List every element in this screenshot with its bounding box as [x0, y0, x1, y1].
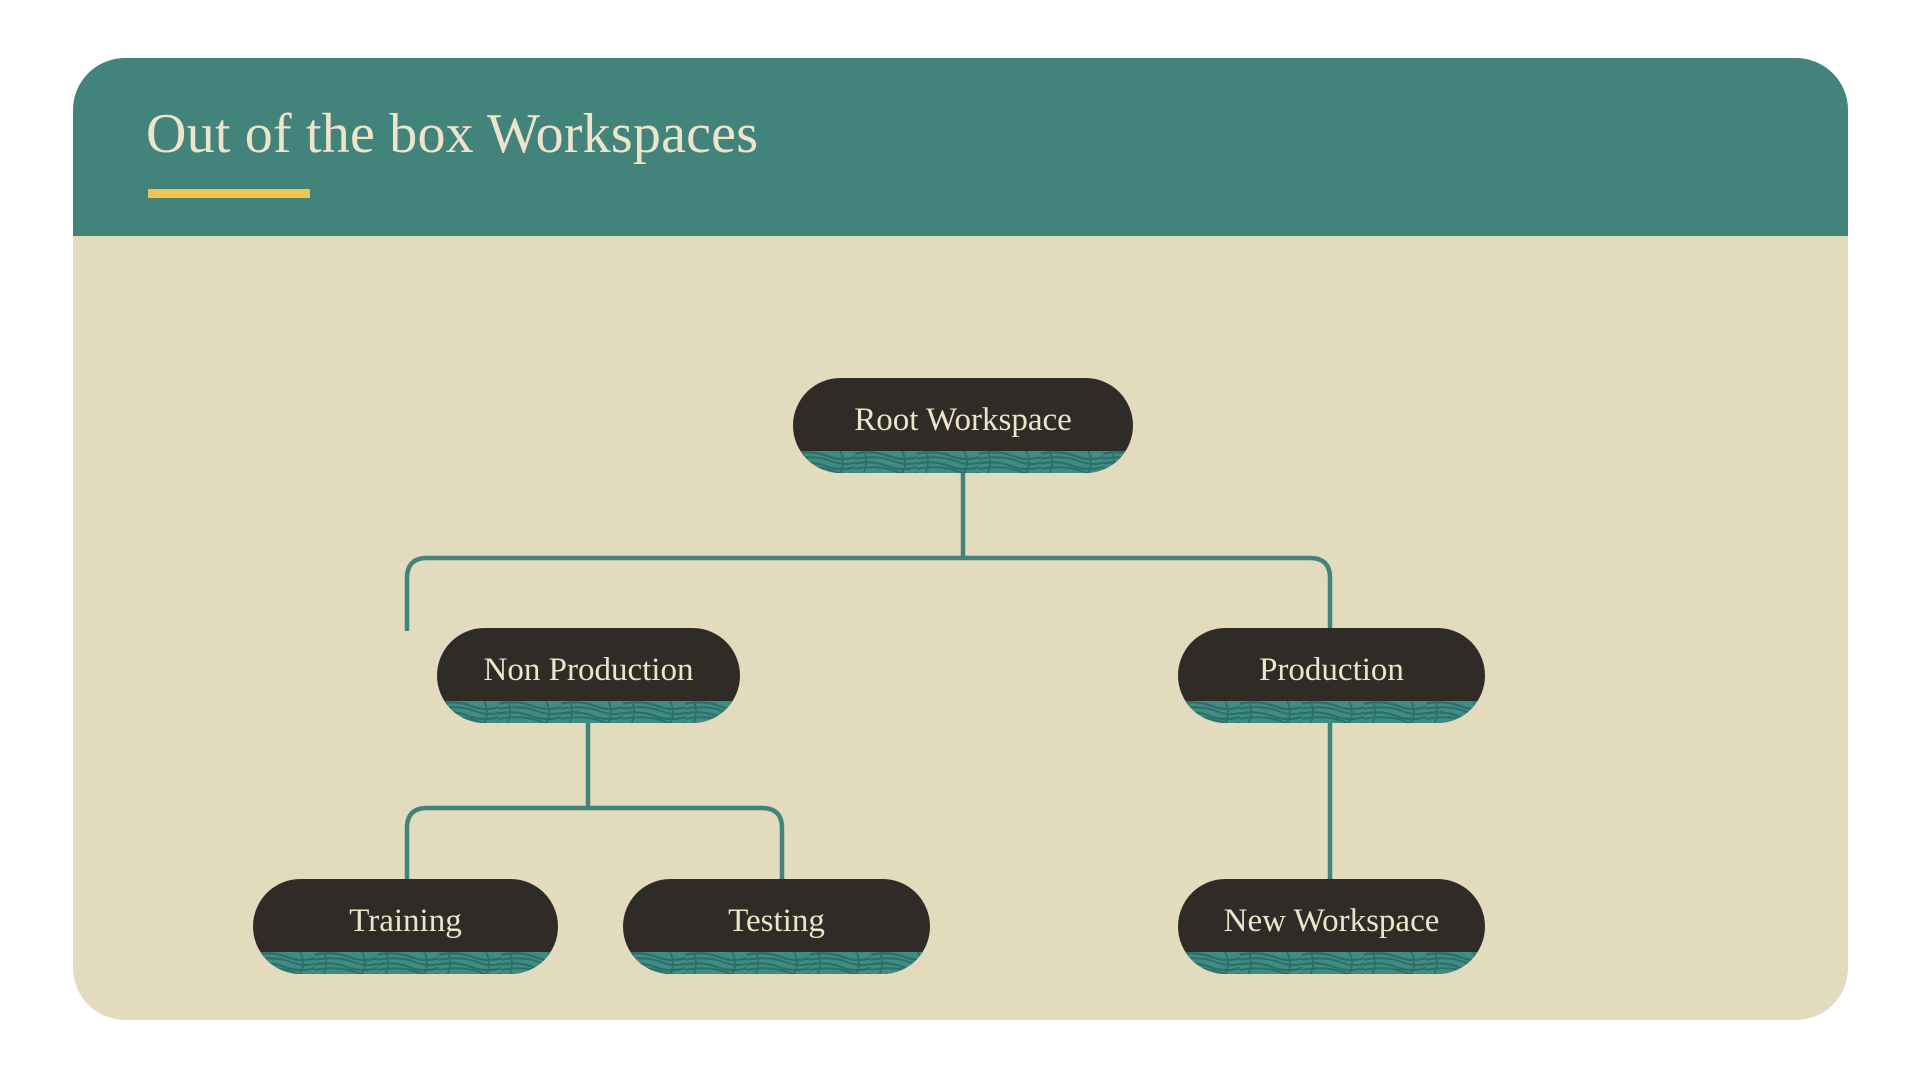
- slide-header: Out of the box Workspaces: [73, 58, 1848, 236]
- node-testing[interactable]: Testing: [623, 879, 930, 974]
- node-label: Root Workspace: [854, 378, 1072, 437]
- node-production[interactable]: Production: [1178, 628, 1485, 723]
- slide-root: Out of the box Workspaces: [0, 0, 1920, 1080]
- node-label: Training: [349, 879, 461, 938]
- slide-card: Out of the box Workspaces: [73, 58, 1848, 1020]
- node-label: Testing: [728, 879, 825, 938]
- title-accent-bar: [148, 189, 310, 198]
- node-texture: [623, 952, 930, 974]
- node-texture: [1178, 952, 1485, 974]
- node-label: Non Production: [484, 628, 694, 687]
- page-title: Out of the box Workspaces: [146, 106, 758, 162]
- node-new-workspace[interactable]: New Workspace: [1178, 879, 1485, 974]
- node-root-workspace[interactable]: Root Workspace: [793, 378, 1133, 473]
- node-label: New Workspace: [1224, 879, 1440, 938]
- node-training[interactable]: Training: [253, 879, 558, 974]
- node-label: Production: [1259, 628, 1404, 687]
- node-texture: [253, 952, 558, 974]
- node-non-production[interactable]: Non Production: [437, 628, 740, 723]
- node-texture: [1178, 701, 1485, 723]
- node-texture: [437, 701, 740, 723]
- node-texture: [793, 451, 1133, 473]
- diagram-canvas: Root Workspace Non Production Production: [73, 236, 1848, 1020]
